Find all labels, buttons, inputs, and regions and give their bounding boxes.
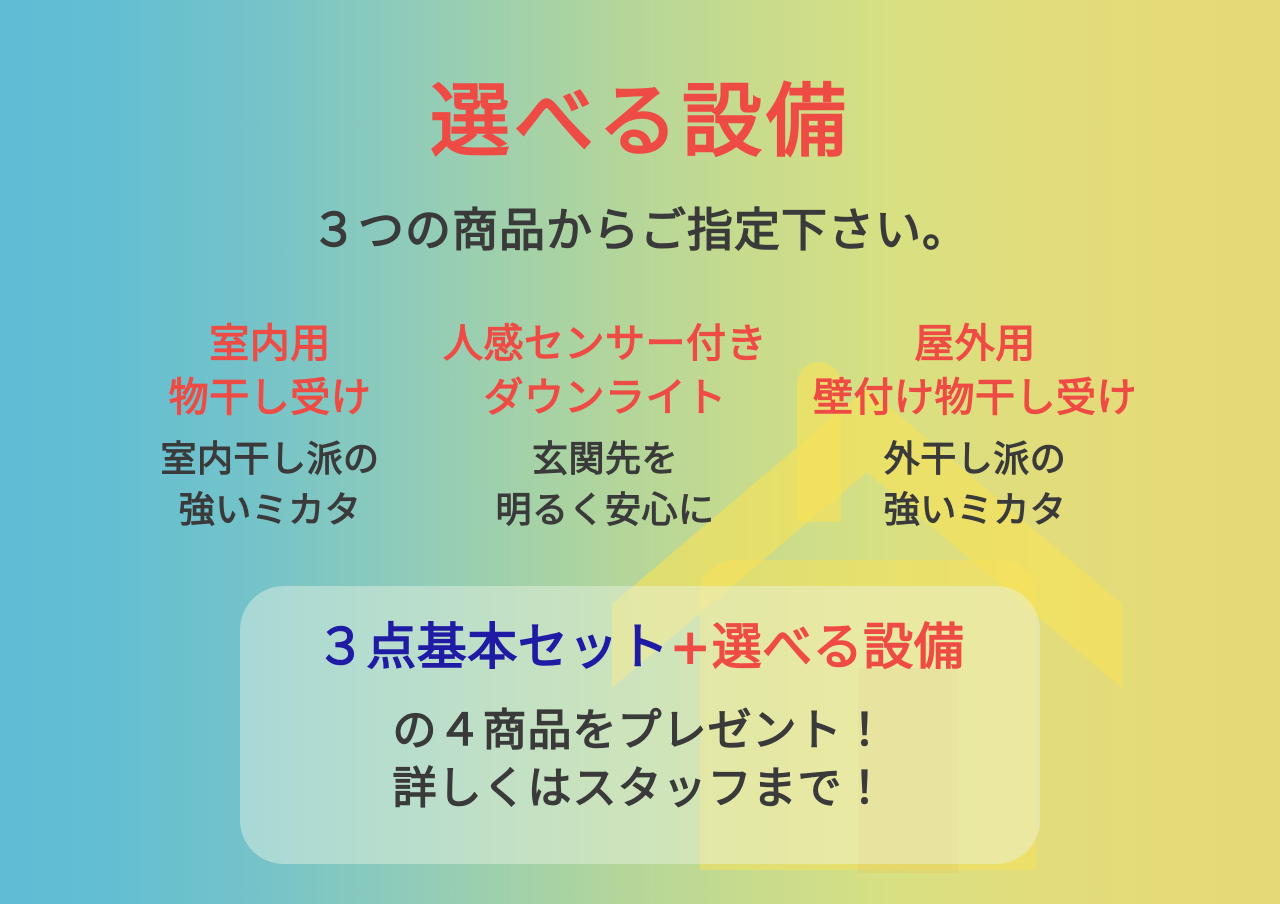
promo-detail-line2: 詳しくはスタッフまで！ [0, 760, 1280, 818]
option-description: 室内干し派の 強いミカタ [105, 435, 435, 536]
option-description-line2: 明るく安心に [435, 486, 775, 536]
option-heading-line2: 壁付け物干し受け [775, 372, 1175, 426]
promo-headline: ３点基本セット+選べる設備 [0, 622, 1280, 672]
option-heading-line2: 物干し受け [105, 372, 435, 426]
page-title: 選べる設備 [0, 82, 1280, 162]
poster-canvas: 選べる設備 ３つの商品からご指定下さい。 室内用 物干し受け 室内干し派の 強い… [0, 0, 1280, 904]
option-column-indoor: 室内用 物干し受け 室内干し派の 強いミカタ [105, 318, 435, 536]
option-description-line1: 室内干し派の [105, 435, 435, 485]
page-subtitle: ３つの商品からご指定下さい。 [0, 205, 1280, 256]
option-description: 玄関先を 明るく安心に [435, 435, 775, 536]
option-description-line1: 玄関先を [435, 435, 775, 485]
promo-headline-choice: +選べる設備 [669, 618, 964, 676]
promo-detail-lines: の４商品をプレゼント！ 詳しくはスタッフまで！ [0, 702, 1280, 818]
poster-content: 選べる設備 ３つの商品からご指定下さい。 室内用 物干し受け 室内干し派の 強い… [0, 0, 1280, 904]
option-heading: 人感センサー付き ダウンライト [435, 318, 775, 425]
option-heading-line1: 屋外用 [775, 318, 1175, 372]
option-column-outdoor: 屋外用 壁付け物干し受け 外干し派の 強いミカタ [775, 318, 1175, 536]
option-description: 外干し派の 強いミカタ [775, 435, 1175, 536]
option-description-line2: 強いミカタ [105, 486, 435, 536]
option-description-line1: 外干し派の [775, 435, 1175, 485]
option-heading-line2: ダウンライト [435, 372, 775, 426]
option-description-line2: 強いミカタ [775, 486, 1175, 536]
promo-headline-base-set: ３点基本セット [316, 618, 670, 676]
option-heading: 室内用 物干し受け [105, 318, 435, 425]
option-heading: 屋外用 壁付け物干し受け [775, 318, 1175, 425]
promo-detail-line1: の４商品をプレゼント！ [0, 702, 1280, 760]
option-heading-line1: 人感センサー付き [435, 318, 775, 372]
option-columns: 室内用 物干し受け 室内干し派の 強いミカタ 人感センサー付き ダウンライト 玄… [0, 318, 1280, 536]
option-column-downlight: 人感センサー付き ダウンライト 玄関先を 明るく安心に [435, 318, 775, 536]
option-heading-line1: 室内用 [105, 318, 435, 372]
